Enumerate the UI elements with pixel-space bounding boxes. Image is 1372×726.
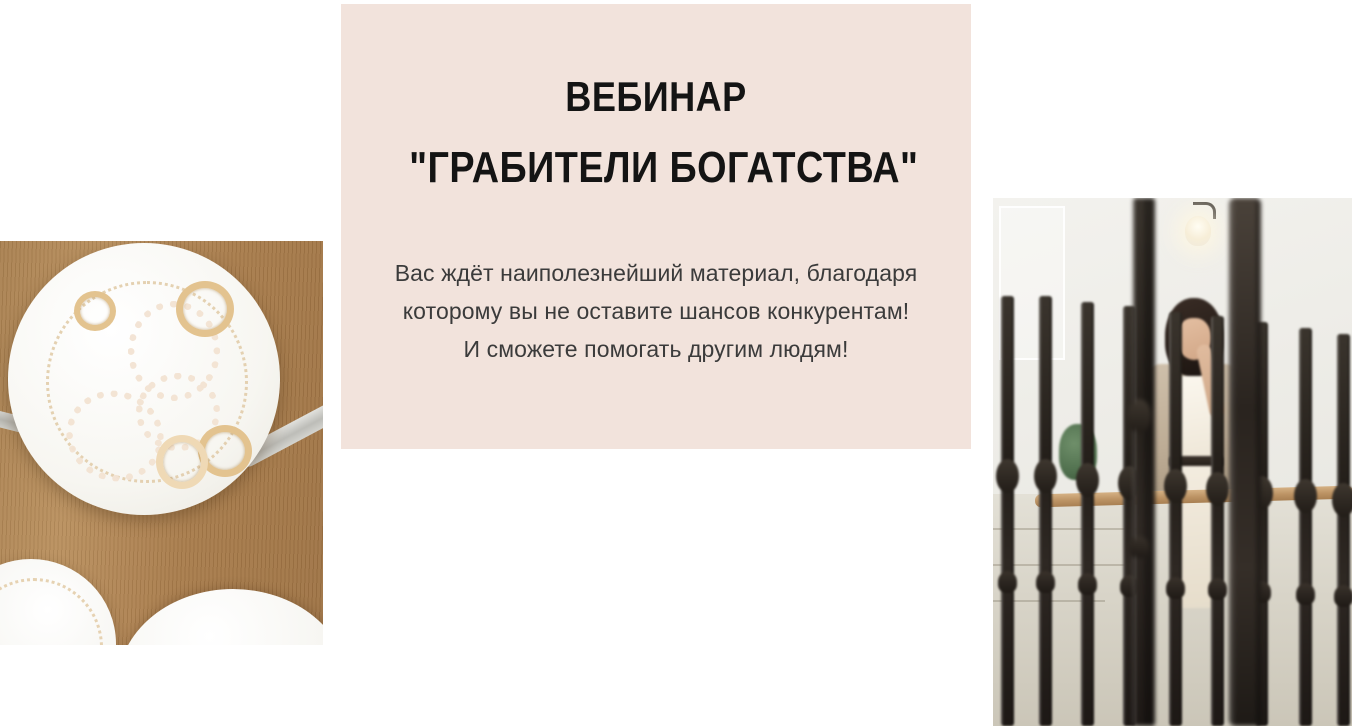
iron-baluster <box>1299 328 1312 726</box>
wall-sconce-lamp <box>1181 202 1215 248</box>
pearl-jewelry-flatlay-photo <box>0 241 323 645</box>
promo-panel: ВЕБИНАР "ГРАБИТЕЛИ БОГАТСТВА" Вас ждёт н… <box>341 4 971 449</box>
promo-description-line-3: И сможете помогать другим людям! <box>369 330 943 368</box>
gold-ring <box>176 281 234 337</box>
iron-baluster <box>1039 296 1052 726</box>
sconce-bulb <box>1185 216 1211 246</box>
pearl-earring <box>74 291 116 331</box>
secondary-plate-right <box>118 589 323 645</box>
iron-baluster <box>1001 296 1014 726</box>
promo-description-line-1: Вас ждёт наиполезнейший материал, благод… <box>369 254 943 292</box>
iron-baluster-foreground <box>1229 198 1261 726</box>
webinar-heading-line-1: ВЕБИНАР <box>409 76 903 118</box>
main-plate <box>8 243 280 515</box>
iron-baluster <box>1081 302 1094 726</box>
webinar-heading-line-2: "ГРАБИТЕЛИ БОГАТСТВА" <box>409 146 903 190</box>
gold-ring <box>156 435 208 489</box>
promo-description-line-2: которому вы не оставите шансов конкурент… <box>369 292 943 330</box>
iron-baluster-foreground <box>1133 198 1155 726</box>
page-canvas: ВЕБИНАР "ГРАБИТЕЛИ БОГАТСТВА" Вас ждёт н… <box>0 0 1372 726</box>
iron-baluster <box>1337 334 1350 726</box>
promo-description: Вас ждёт наиполезнейший материал, благод… <box>369 190 943 368</box>
iron-baluster <box>1211 316 1224 726</box>
iron-baluster <box>1169 312 1182 726</box>
plate-bead-rim <box>0 578 103 645</box>
woman-figure <box>1145 298 1241 608</box>
secondary-plate-left <box>0 559 116 645</box>
stair-step <box>993 528 1143 530</box>
woman-on-staircase-photo <box>993 198 1352 726</box>
